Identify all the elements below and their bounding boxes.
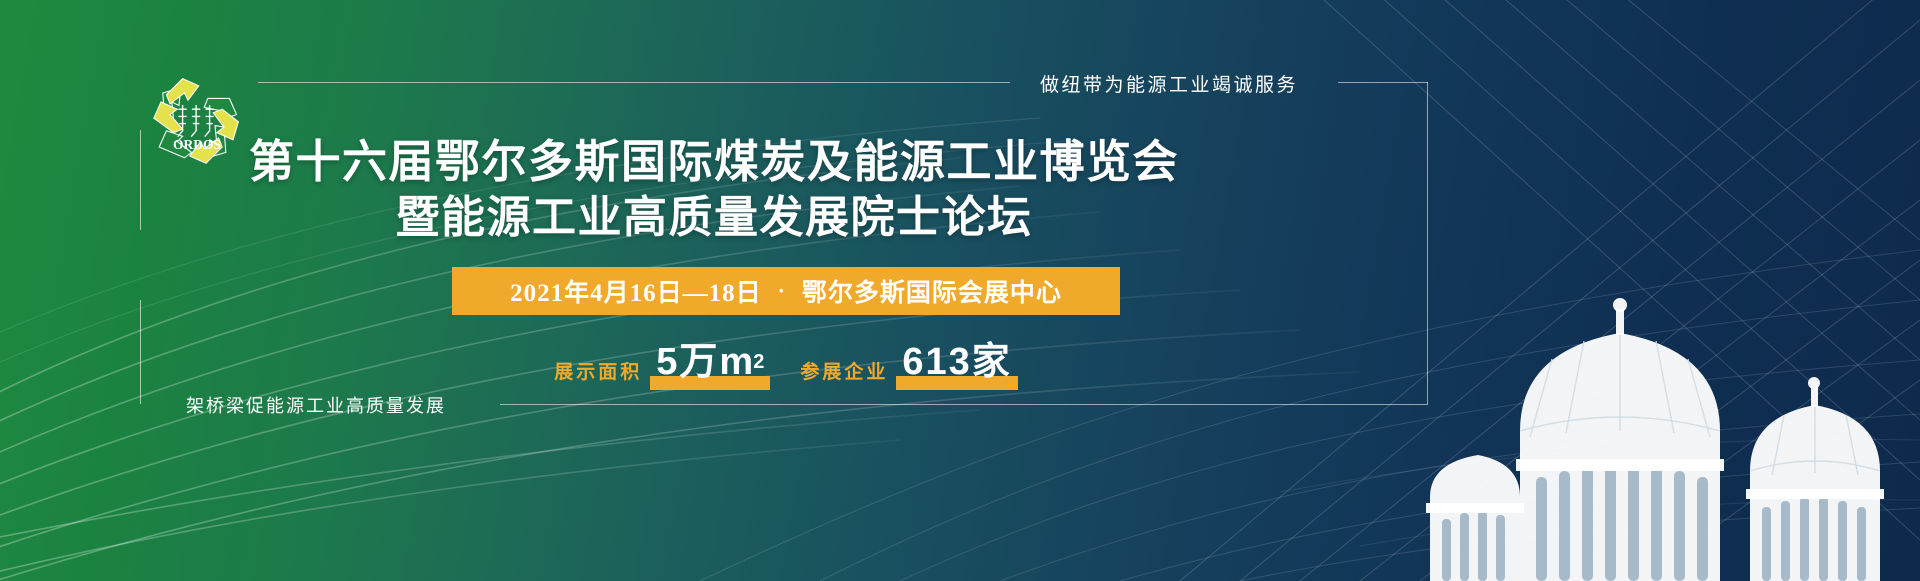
divider-top-right (1338, 82, 1428, 83)
stat-exhibition-area: 展示面积 5万m2 (554, 330, 770, 390)
mongolian-script (178, 106, 213, 137)
stat-value-exhibitors: 613家 (896, 330, 1017, 390)
title-line-primary: 第十六届鄂尔多斯国际煤炭及能源工业博览会 (0, 134, 1428, 190)
date-venue-separator: · (762, 278, 802, 304)
divider-bottom (500, 404, 1428, 405)
stat-exhibitor-count: 参展企业 613家 (800, 330, 1017, 390)
stats-row: 展示面积 5万m2 参展企业 613家 (452, 330, 1120, 390)
tagline-top-right: 做纽带为能源工业竭诚服务 (1040, 70, 1298, 97)
convention-center-dome (1360, 281, 1920, 581)
stat-value-area: 5万m2 (650, 330, 770, 390)
stat-superscript-area: 2 (753, 351, 764, 374)
expo-banner: ORDOS 做纽带为能源工业竭诚服务 架桥梁促能源工业高质量发展 第十六届鄂尔多… (0, 0, 1920, 581)
title-line-secondary: 暨能源工业高质量发展院士论坛 (0, 190, 1428, 246)
stat-number-area: 5万m (656, 330, 755, 385)
stat-label-area: 展示面积 (554, 357, 642, 390)
event-date: 2021年4月16日—18日 (510, 273, 762, 309)
stat-number-exhibitors: 613家 (902, 330, 1011, 385)
title-block: 第十六届鄂尔多斯国际煤炭及能源工业博览会 暨能源工业高质量发展院士论坛 (0, 134, 1428, 246)
date-venue-bar: 2021年4月16日—18日 · 鄂尔多斯国际会展中心 (452, 267, 1120, 315)
tagline-bottom-left: 架桥梁促能源工业高质量发展 (186, 392, 446, 418)
divider-top-middle (258, 82, 1010, 83)
stat-label-exhibitors: 参展企业 (800, 357, 888, 390)
event-venue: 鄂尔多斯国际会展中心 (802, 273, 1062, 309)
divider-bottom-left-vertical (140, 300, 141, 404)
